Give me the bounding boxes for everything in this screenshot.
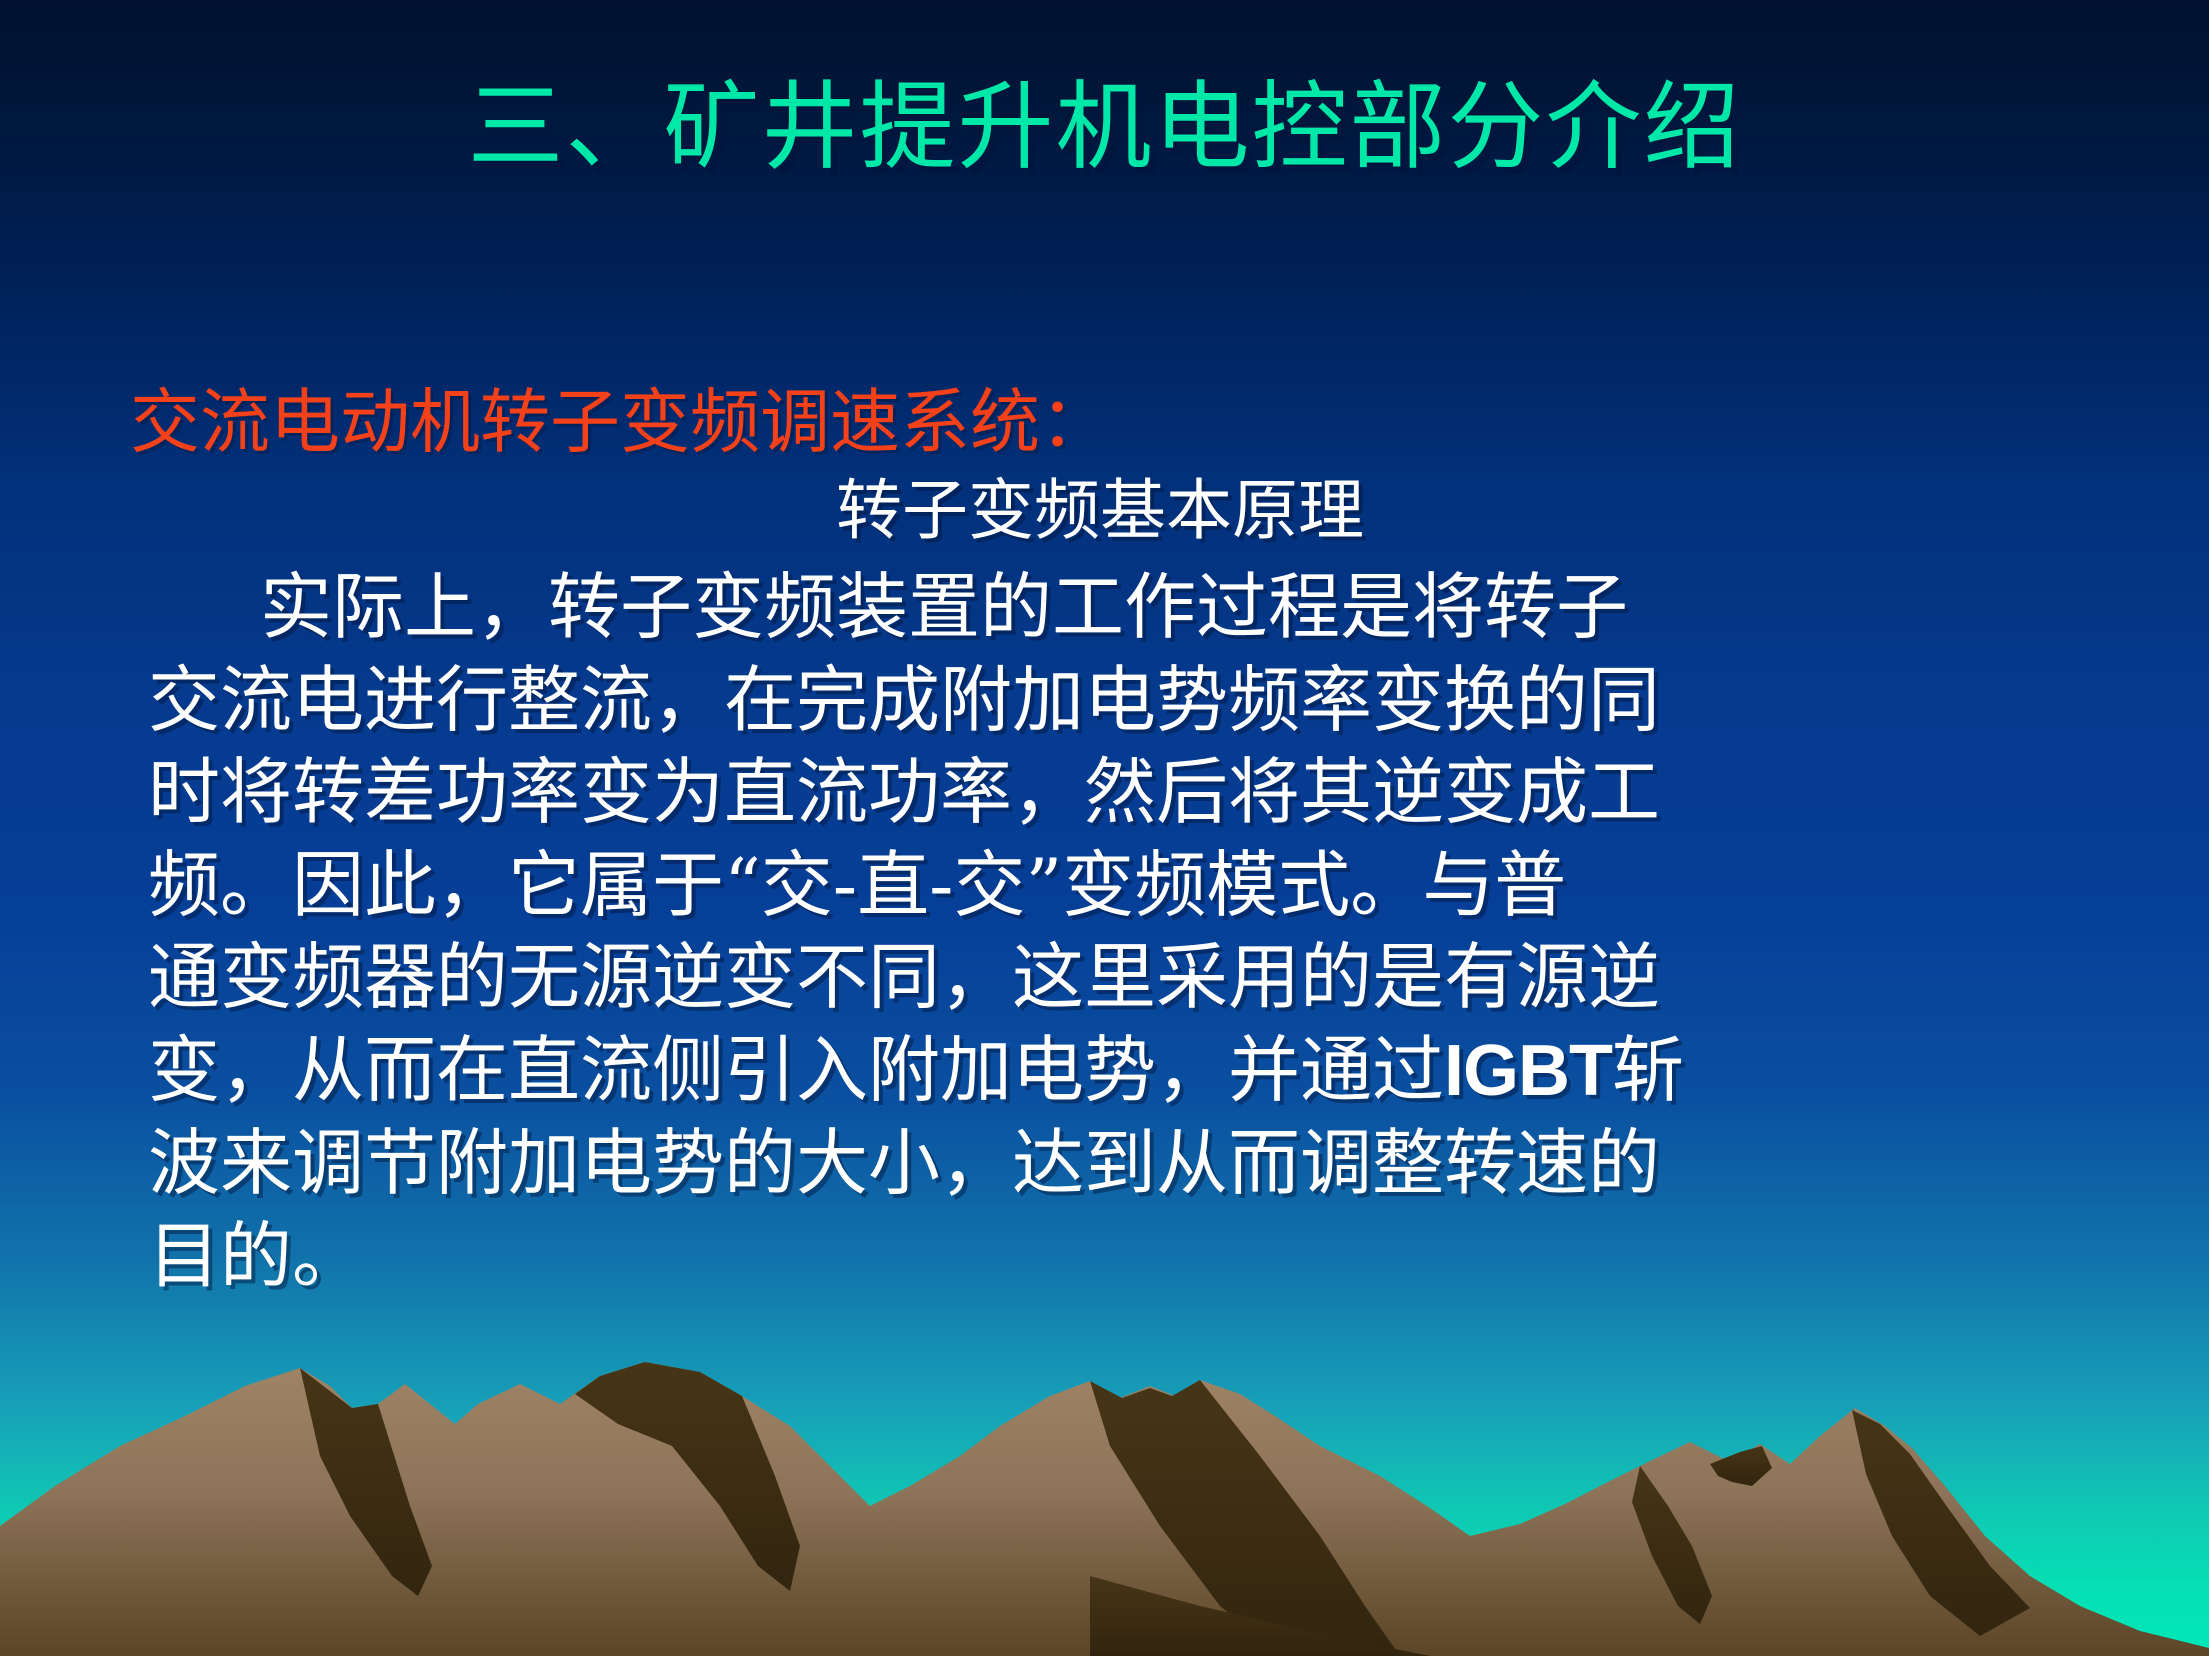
paragraph-line-6-head: 变，从而在直流侧引入附加电势，并通过	[148, 1028, 1444, 1112]
paragraph-line-1: 实际上，转子变频装置的工作过程是将转子	[148, 561, 2080, 654]
mountain-shadow-right3	[1852, 1410, 2030, 1636]
section-heading-orange: 交流电动机转子变频调速系统：	[130, 385, 2080, 461]
slide-title: 三、矿井提升机电控部分介绍	[0, 74, 2209, 182]
mountain-shadow-right2	[1710, 1446, 1772, 1486]
mountain-scenery-graphic	[0, 1276, 2209, 1656]
paragraph-line-6-tail: 斩	[1612, 1028, 1684, 1112]
paragraph-line-2: 交流电进行整流，在完成附加电势频率变换的同	[148, 654, 2080, 747]
section-subheading: 转子变频基本原理	[120, 475, 2080, 548]
mountain-ridge-light	[0, 1362, 2209, 1656]
mountain-shadow-mid	[1090, 1380, 1400, 1656]
paragraph-line-5: 通变频器的无源逆变不同，这里采用的是有源逆	[148, 931, 2080, 1024]
mountain-shadow-base	[1090, 1576, 1430, 1656]
paragraph-line-7: 波来调节附加电势的大小，达到从而调整转速的	[148, 1117, 2080, 1210]
paragraph-line-6-acronym: IGBT	[1444, 1031, 1612, 1111]
slide-content-body: 交流电动机转子变频调速系统： 转子变频基本原理 实际上，转子变频装置的工作过程是…	[120, 385, 2080, 1302]
body-paragraph: 实际上，转子变频装置的工作过程是将转子 交流电进行整流，在完成附加电势频率变换的…	[120, 561, 2080, 1302]
paragraph-line-4: 频。因此，它属于“交-直-交”变频模式。与普	[148, 839, 2080, 932]
presentation-slide: 三、矿井提升机电控部分介绍 交流电动机转子变频调速系统： 转子变频基本原理 实际…	[0, 0, 2209, 1656]
mountain-shadow-left	[300, 1368, 432, 1596]
mountain-shadow-right1	[1632, 1466, 1712, 1624]
paragraph-line-6: 变，从而在直流侧引入附加电势，并通过IGBT斩	[148, 1024, 2080, 1118]
mountain-shadow-left2	[575, 1362, 800, 1591]
paragraph-line-8: 目的。	[148, 1210, 2080, 1303]
paragraph-line-3: 时将转差功率变为直流功率，然后将其逆变成工	[148, 746, 2080, 839]
